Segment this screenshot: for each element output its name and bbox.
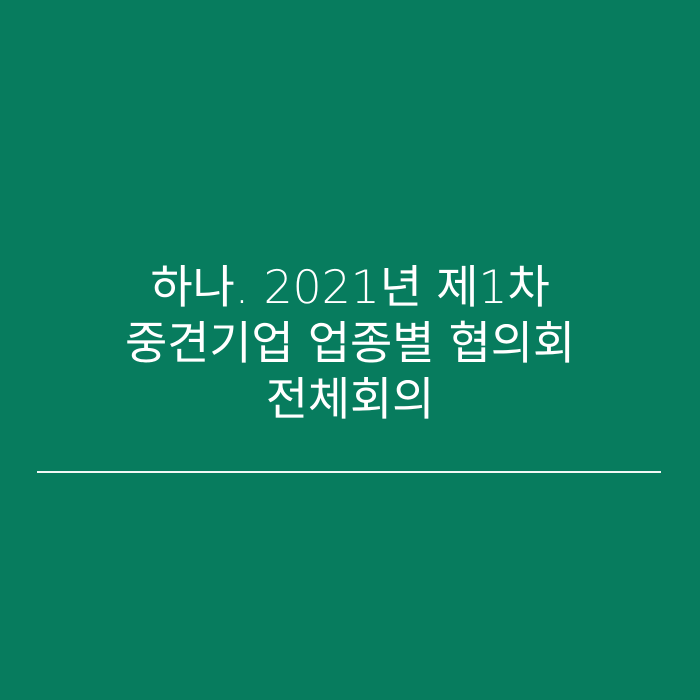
horizontal-divider [37, 471, 661, 473]
notice-card: 하나. 2021년 제1차 중견기업 업종별 협의회 전체회의 [0, 0, 700, 700]
title-line-2: 중견기업 업종별 협의회 [0, 315, 700, 371]
title-line-1: 하나. 2021년 제1차 [0, 259, 700, 315]
divider-container [0, 471, 700, 474]
page-title: 하나. 2021년 제1차 중견기업 업종별 협의회 전체회의 [0, 0, 700, 427]
title-line-3: 전체회의 [0, 371, 700, 427]
